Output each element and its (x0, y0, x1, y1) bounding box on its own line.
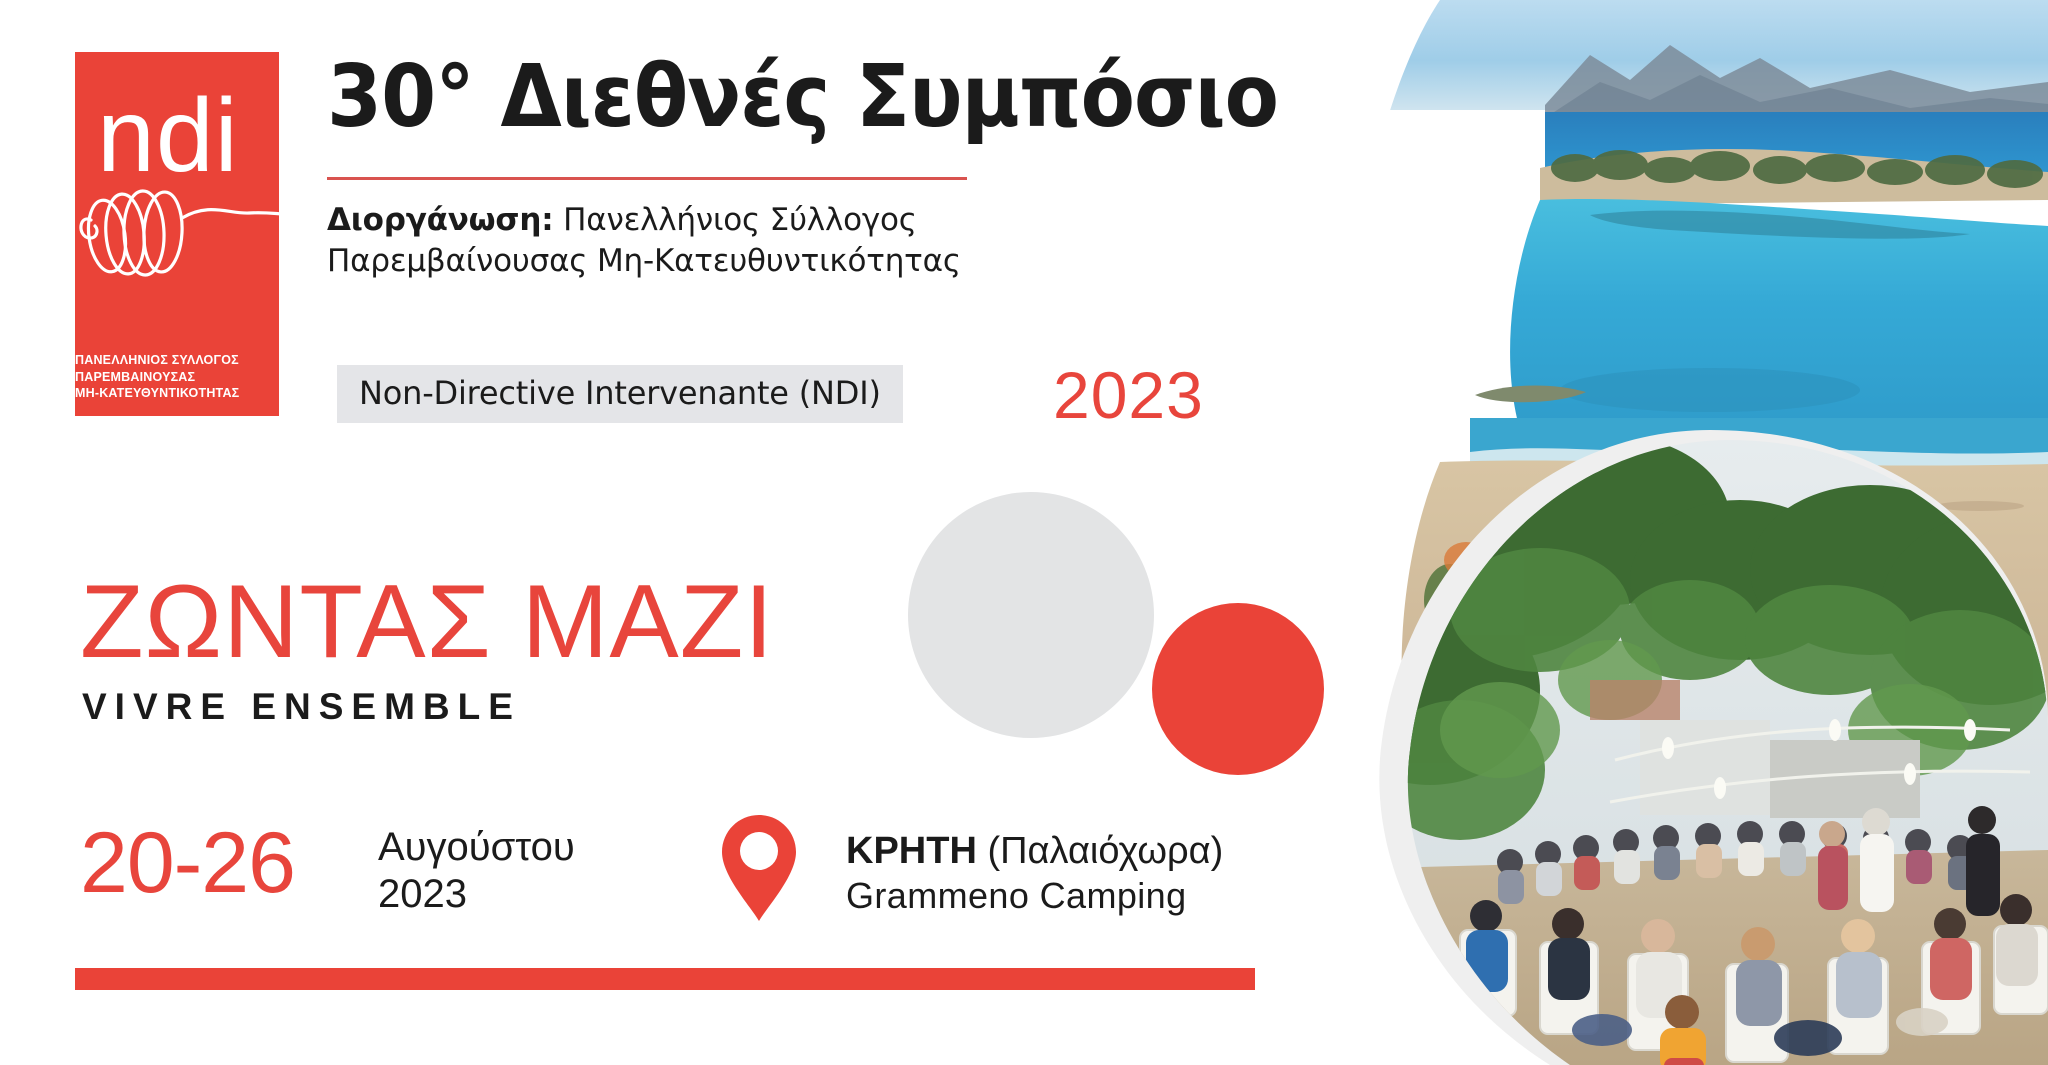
event-year: 2023 (378, 871, 575, 918)
event-date-range: 20-26 (80, 820, 295, 906)
ndi-fullname-chip: Non-Directive Intervenante (NDI) (337, 365, 903, 423)
organizer-line1: Διοργάνωση: Πανελλήνιος Σύλλογος (327, 200, 961, 241)
event-date-month-year: Αυγούστου 2023 (378, 824, 575, 918)
photo-collage (1290, 0, 2048, 1065)
edition-year: 2023 (1053, 357, 1204, 433)
logo-caption: ΠΑΝΕΛΛΗΝΙΟΣ ΣΥΛΛΟΓΟΣ ΠΑΡΕΜΒΑΙΝΟΥΣΑΣ ΜΗ-Κ… (75, 352, 285, 402)
logo-wordmark: ndi (97, 84, 239, 188)
map-pin-icon (718, 812, 800, 924)
logo-caption-line3: ΜΗ-ΚΑΤΕΥΘΥΝΤΙΚΟΤΗΤΑΣ (75, 385, 285, 402)
slogan-french: VIVRE ENSEMBLE (82, 686, 521, 728)
organizer-block: Διοργάνωση: Πανελλήνιος Σύλλογος Παρεμβα… (327, 200, 961, 282)
scribble-loop-icon (75, 180, 279, 290)
location-city: ΚΡΗΤΗ (846, 830, 977, 872)
event-location: ΚΡΗΤΗ (Παλαιόχωρα) Grammeno Camping (846, 828, 1223, 918)
logo-caption-line1: ΠΑΝΕΛΛΗΝΙΟΣ ΣΥΛΛΟΓΟΣ (75, 352, 285, 369)
slogan-greek: ΖΩΝΤΑΣ ΜΑΖΙ (80, 570, 774, 674)
organizer-name-part1: Πανελλήνιος Σύλλογος (553, 202, 916, 238)
ndi-logo: ndi (75, 52, 279, 332)
location-venue: Grammeno Camping (846, 874, 1223, 918)
location-town: (Παλαιόχωρα) (977, 830, 1223, 872)
organizer-label: Διοργάνωση: (327, 202, 553, 238)
page-title: 30° Διεθνές Συμπόσιο (327, 52, 1278, 142)
bottom-accent-bar (75, 968, 1255, 990)
poster-root: ndi ΠΑΝΕΛΛΗΝΙΟΣ ΣΥΛΛΟΓΟΣ ΠΑΡΕΜΒΑΙΝΟΥΣΑΣ … (0, 0, 2048, 1065)
location-line1: ΚΡΗΤΗ (Παλαιόχωρα) (846, 828, 1223, 874)
organizer-line2: Παρεμβαίνουσας Μη-Κατευθυντικότητας (327, 241, 961, 282)
logo-caption-line2: ΠΑΡΕΜΒΑΙΝΟΥΣΑΣ (75, 369, 285, 386)
group-seminar-photo (1310, 430, 2048, 1065)
title-underline-rule (327, 177, 967, 180)
event-month: Αυγούστου (378, 824, 575, 871)
decorative-grey-circle (908, 492, 1154, 738)
